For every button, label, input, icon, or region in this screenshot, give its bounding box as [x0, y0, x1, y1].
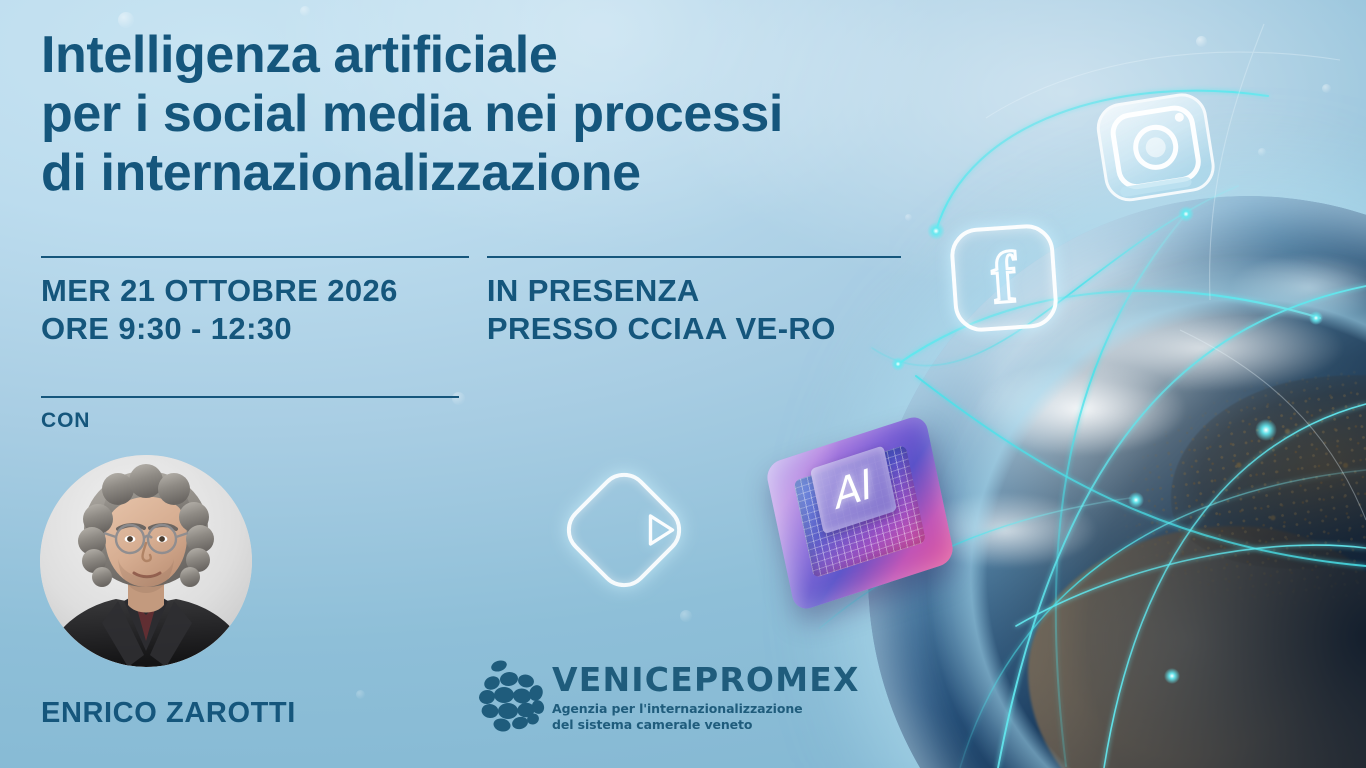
speaker-name: ENRICO ZAROTTI [41, 697, 296, 730]
play-icon [556, 462, 692, 598]
divider-speaker [41, 396, 459, 398]
logo-tagline: Agenzia per l'internazionalizzazione del… [552, 701, 860, 733]
logo-mark-icon [478, 659, 546, 733]
logo-tagline-line-2: del sistema camerale veneto [552, 717, 860, 733]
globe-limb [868, 196, 1366, 768]
event-date-block: MER 21 OTTOBRE 2026 ORE 9:30 - 12:30 [41, 256, 469, 349]
bokeh-particle [1258, 148, 1266, 156]
facebook-icon: f [948, 222, 1059, 333]
divider-date [41, 256, 469, 258]
bokeh-particle [680, 610, 692, 622]
chip-ai-label: AI [831, 464, 877, 515]
bokeh-particle [905, 214, 912, 221]
bokeh-particle [1322, 84, 1331, 93]
bokeh-particle [1196, 36, 1207, 47]
event-venue-block: IN PRESENZA PRESSO CCIAA VE-RO [487, 256, 901, 349]
bokeh-particle [356, 690, 365, 699]
play-triangle [608, 511, 641, 549]
event-venue-line-2: PRESSO CCIAA VE-RO [487, 310, 901, 348]
logo-wordmark: VENICEPROMEX [552, 663, 860, 696]
logo-text-block: VENICEPROMEX Agenzia per l'internazional… [552, 663, 860, 733]
title-line-1: Intelligenza artificiale [41, 26, 921, 85]
event-venue-line-1: IN PRESENZA [487, 272, 901, 310]
event-date-line-1: MER 21 OTTOBRE 2026 [41, 272, 469, 310]
event-meta: MER 21 OTTOBRE 2026 ORE 9:30 - 12:30 IN … [41, 256, 901, 349]
event-venue-text: IN PRESENZA PRESSO CCIAA VE-RO [487, 272, 901, 349]
page-title: Intelligenza artificiale per i social me… [41, 26, 921, 202]
instagram-icon [1088, 84, 1228, 214]
earth-globe [868, 196, 1366, 768]
speaker-block: CON [41, 396, 459, 433]
title-line-2: per i social media nei processi [41, 85, 921, 144]
speaker-avatar [40, 455, 252, 667]
event-date-line-2: ORE 9:30 - 12:30 [41, 310, 469, 348]
event-poster: f AI Intelligenza artificiale per i soci… [0, 0, 1366, 768]
logo-tagline-line-1: Agenzia per l'internazionalizzazione [552, 701, 860, 717]
divider-venue [487, 256, 901, 258]
event-date-text: MER 21 OTTOBRE 2026 ORE 9:30 - 12:30 [41, 272, 469, 349]
venicepromex-logo: VENICEPROMEX Agenzia per l'internazional… [478, 657, 778, 739]
facebook-glyph: f [990, 241, 1019, 314]
title-line-3: di internazionalizzazione [41, 144, 921, 203]
speaker-intro-label: CON [41, 409, 459, 433]
bokeh-particle [300, 6, 310, 16]
